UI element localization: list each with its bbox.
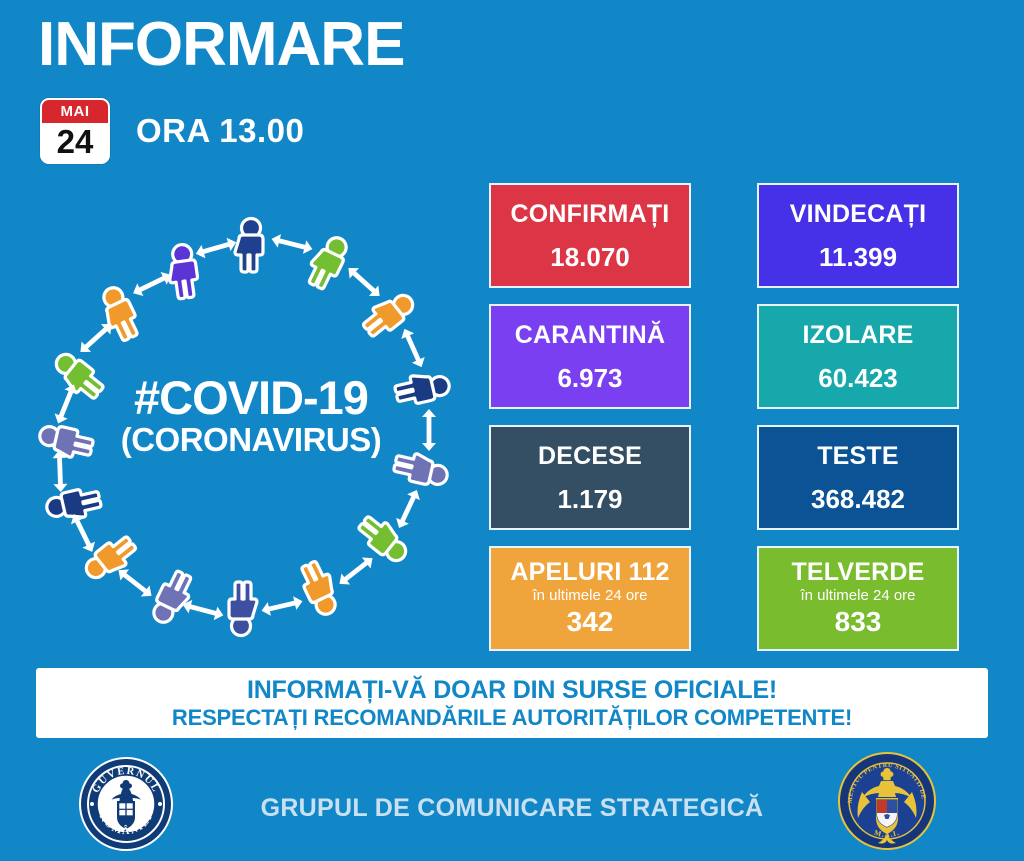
date-time-bar: MAI 24 ORA 13.00 [40, 98, 304, 164]
stat-label: APELURI 112 [510, 559, 669, 585]
stat-value: 6.973 [557, 365, 622, 391]
stat-label: CONFIRMAȚI [511, 201, 670, 227]
stat-label: DECESE [538, 443, 642, 469]
stat-value: 18.070 [550, 244, 630, 270]
footer-organization-name: GRUPUL DE COMUNICARE STRATEGICĂ [0, 794, 1024, 823]
people-circle-social-distancing-icon: #COVID-19 (CORONAVIRUS) [36, 212, 466, 642]
stat-sublabel: în ultimele 24 ore [800, 588, 915, 603]
banner-line-2: RESPECTAȚI RECOMANDĂRILE AUTORITĂȚILOR C… [172, 705, 852, 730]
stat-value: 11.399 [819, 244, 897, 270]
stats-row-3: DECESE 1.179 TESTE 368.482 [489, 425, 959, 530]
statistics-grid: CONFIRMAȚI 18.070 VINDECAȚI 11.399 CARAN… [489, 183, 959, 667]
stat-card-decese[interactable]: DECESE 1.179 [489, 425, 691, 530]
calendar-icon: MAI 24 [40, 98, 110, 164]
calendar-month: MAI [42, 100, 108, 123]
stat-value: 342 [567, 608, 614, 636]
stat-value: 60.423 [818, 365, 898, 391]
report-time: ORA 13.00 [136, 112, 304, 150]
stat-label: VINDECAȚI [790, 201, 927, 227]
stats-row-2: CARANTINĂ 6.973 IZOLARE 60.423 [489, 304, 959, 409]
stat-card-telverde[interactable]: TELVERDE în ultimele 24 ore 833 [757, 546, 959, 651]
infographic-page: INFORMARE MAI 24 ORA 13.00 [0, 0, 1024, 860]
stat-value: 833 [835, 608, 882, 636]
stats-row-4: APELURI 112 în ultimele 24 ore 342 TELVE… [489, 546, 959, 651]
stat-label: TESTE [817, 443, 899, 469]
stat-card-apeluri-112[interactable]: APELURI 112 în ultimele 24 ore 342 [489, 546, 691, 651]
stat-sublabel: în ultimele 24 ore [532, 588, 647, 603]
stats-row-1: CONFIRMAȚI 18.070 VINDECAȚI 11.399 [489, 183, 959, 288]
stat-value: 368.482 [811, 486, 905, 512]
stat-label: CARANTINĂ [515, 322, 665, 348]
official-sources-banner: INFORMAȚI-VĂ DOAR DIN SURSE OFICIALE! RE… [36, 668, 988, 738]
banner-line-1: INFORMAȚI-VĂ DOAR DIN SURSE OFICIALE! [247, 676, 777, 705]
stat-card-izolare[interactable]: IZOLARE 60.423 [757, 304, 959, 409]
page-title: INFORMARE [38, 14, 404, 76]
stat-value: 1.179 [557, 486, 622, 512]
stat-card-vindecati[interactable]: VINDECAȚI 11.399 [757, 183, 959, 288]
stat-card-teste[interactable]: TESTE 368.482 [757, 425, 959, 530]
stat-label: IZOLARE [802, 322, 913, 348]
stat-card-carantina[interactable]: CARANTINĂ 6.973 [489, 304, 691, 409]
calendar-day: 24 [42, 123, 108, 162]
stat-card-confirmati[interactable]: CONFIRMAȚI 18.070 [489, 183, 691, 288]
footer: GUVERNUL ROMÂNIEI [0, 752, 1024, 860]
stat-label: TELVERDE [791, 559, 924, 585]
